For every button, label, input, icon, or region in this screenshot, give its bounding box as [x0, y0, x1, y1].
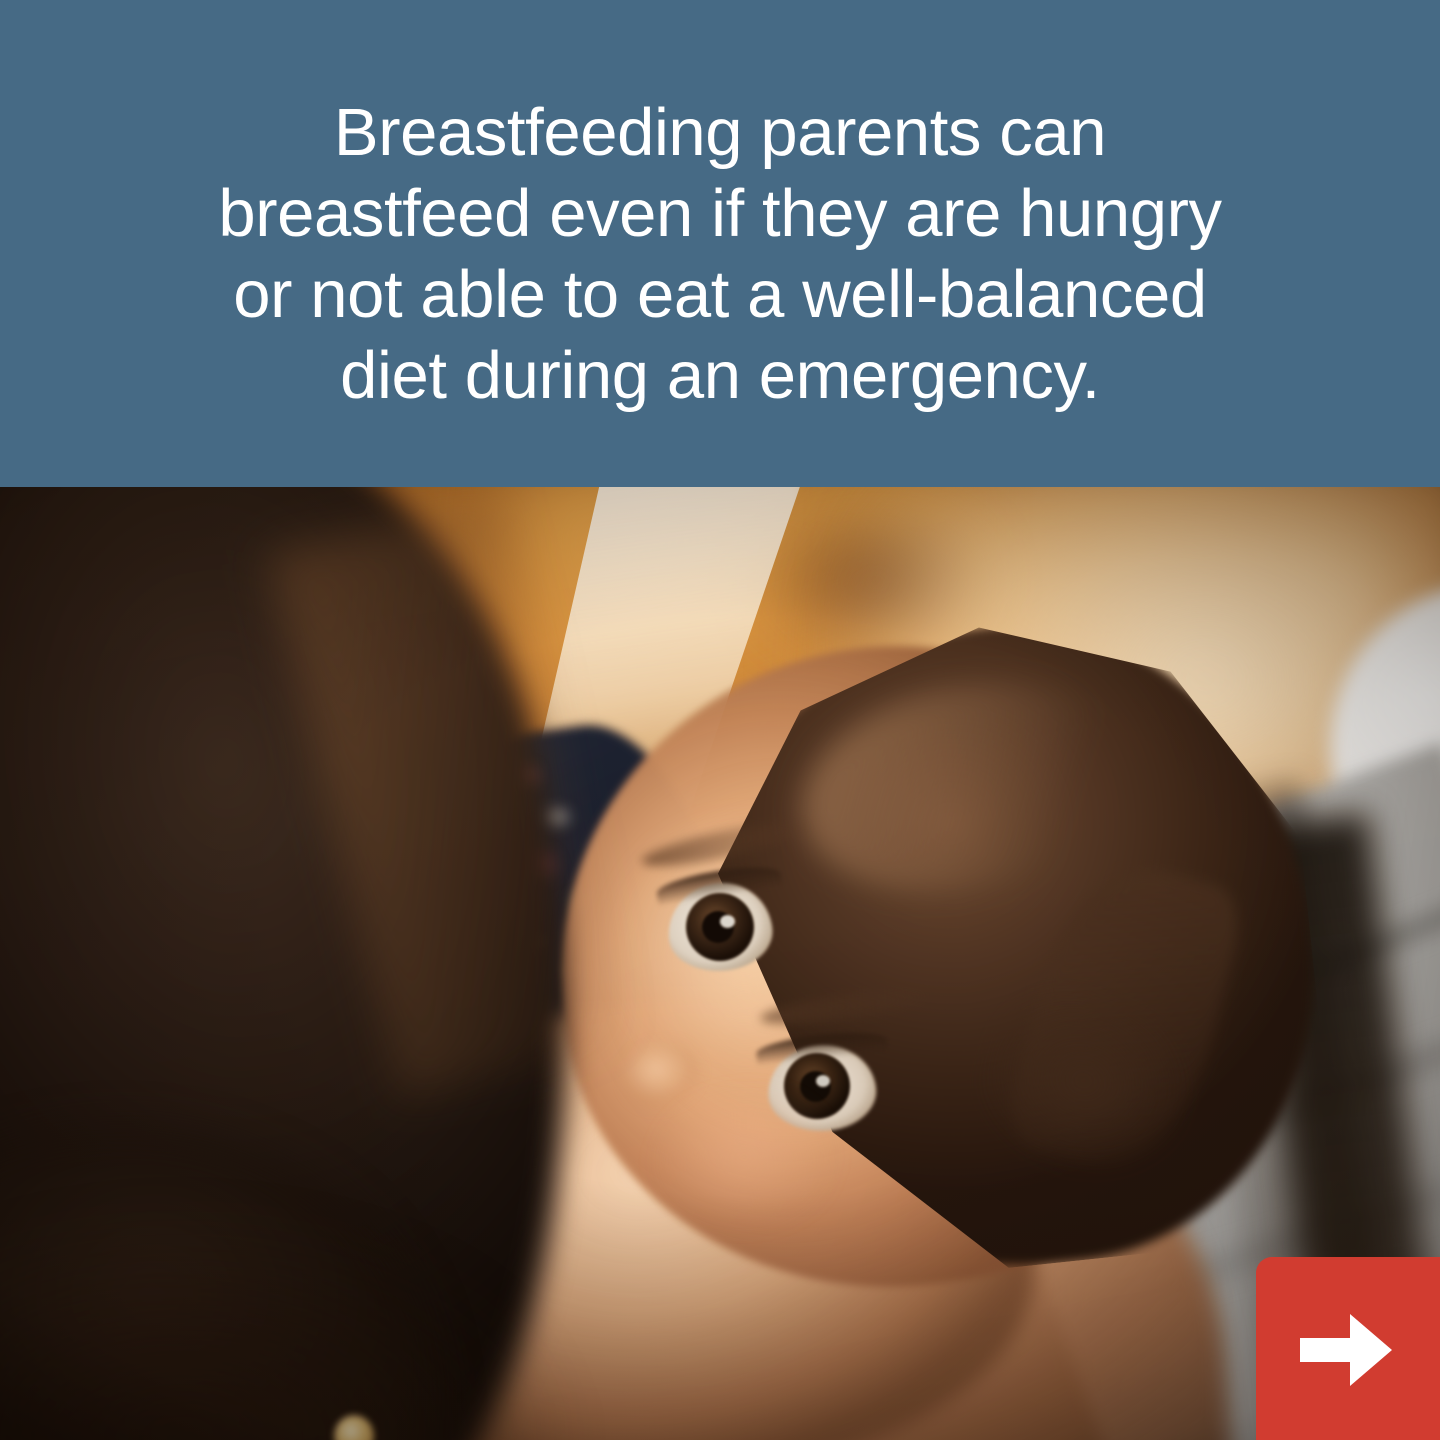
photo-breastfeeding-parent-and-infant — [0, 487, 1440, 1440]
next-button[interactable] — [1256, 1257, 1440, 1440]
infant-eye-glint-upper — [720, 915, 735, 928]
infant-nose — [624, 1043, 704, 1113]
parent-shoulder-shadow — [0, 1187, 700, 1440]
infographic-card: Breastfeeding parents can breastfeed eve… — [0, 0, 1440, 1440]
headline-band: Breastfeeding parents can breastfeed eve… — [0, 0, 1440, 487]
infant-eye-glint-lower — [816, 1075, 830, 1087]
arrow-right-icon — [1300, 1314, 1392, 1386]
headline-text: Breastfeeding parents can breastfeed eve… — [200, 92, 1240, 416]
